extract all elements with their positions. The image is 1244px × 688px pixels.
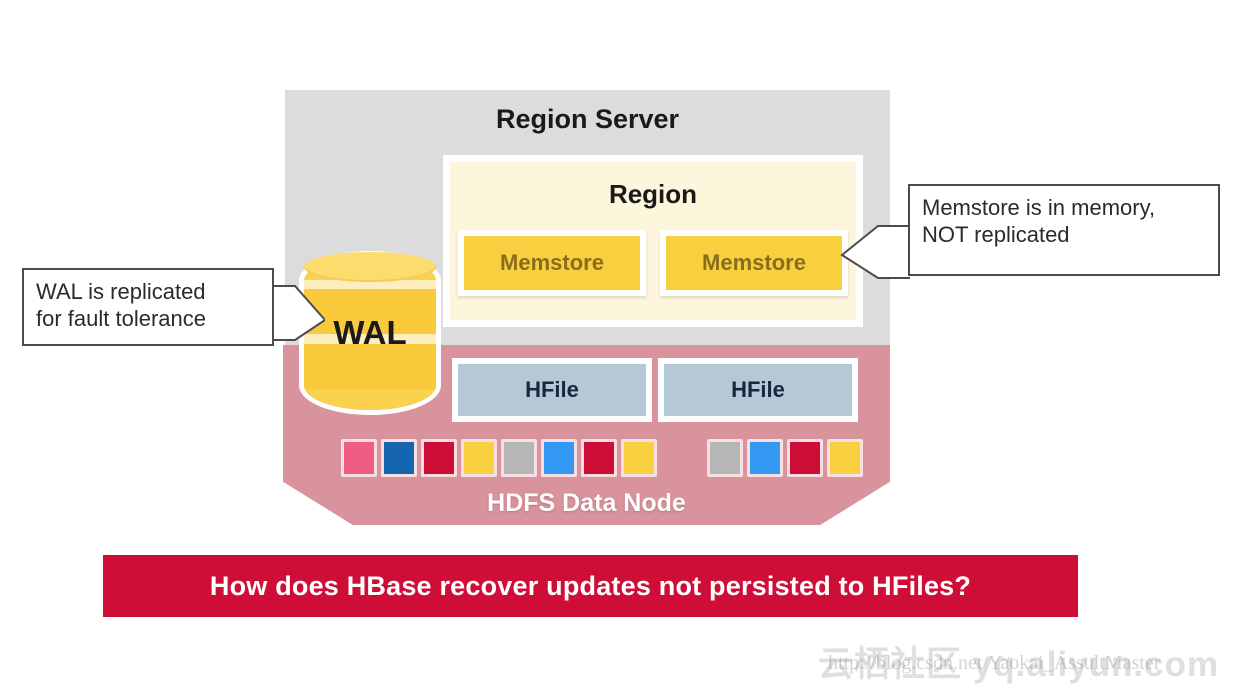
question-banner: How does HBase recover updates not persi… bbox=[103, 555, 1078, 617]
memstore-row: Memstore Memstore bbox=[458, 230, 848, 296]
hdfs-data-node-label: HDFS Data Node bbox=[283, 489, 890, 518]
region-server-title: Region Server bbox=[285, 104, 890, 135]
hdfs-block bbox=[501, 439, 537, 477]
url-watermark: http://blog.csdn.net/Yaokai_AssultMaster bbox=[828, 652, 1160, 675]
hdfs-block bbox=[621, 439, 657, 477]
hfile-1-label: HFile bbox=[458, 364, 646, 416]
hdfs-block bbox=[341, 439, 377, 477]
question-banner-text: How does HBase recover updates not persi… bbox=[210, 571, 971, 602]
wal-cylinder: WAL bbox=[300, 252, 440, 414]
memstore-2: Memstore bbox=[660, 230, 848, 296]
region-box-inner: Region Memstore Memstore bbox=[450, 162, 856, 320]
hfile-1: HFile bbox=[452, 358, 652, 422]
memstore-1-label: Memstore bbox=[464, 236, 640, 290]
region-title: Region bbox=[450, 179, 856, 210]
diagram-canvas: Region Server Region Memstore Memstore H… bbox=[0, 0, 1244, 688]
hfile-row: HFile HFile bbox=[452, 358, 858, 422]
wal-cylinder-top bbox=[304, 252, 436, 282]
wal-label: WAL bbox=[300, 314, 440, 352]
hdfs-block bbox=[541, 439, 577, 477]
memstore-2-label: Memstore bbox=[666, 236, 842, 290]
hdfs-block-group-2 bbox=[707, 439, 863, 477]
hdfs-block bbox=[421, 439, 457, 477]
memstore-callout: Memstore is in memory, NOT replicated bbox=[908, 184, 1220, 276]
region-box: Region Memstore Memstore bbox=[443, 155, 863, 327]
wal-callout: WAL is replicated for fault tolerance bbox=[22, 268, 274, 346]
hdfs-block bbox=[461, 439, 497, 477]
hfile-2-label: HFile bbox=[664, 364, 852, 416]
hdfs-block bbox=[827, 439, 863, 477]
hdfs-block bbox=[381, 439, 417, 477]
hdfs-block-group-1 bbox=[341, 439, 657, 477]
hdfs-block bbox=[747, 439, 783, 477]
hfile-2: HFile bbox=[658, 358, 858, 422]
memstore-1: Memstore bbox=[458, 230, 646, 296]
hdfs-block bbox=[581, 439, 617, 477]
hdfs-block bbox=[787, 439, 823, 477]
hdfs-block bbox=[707, 439, 743, 477]
